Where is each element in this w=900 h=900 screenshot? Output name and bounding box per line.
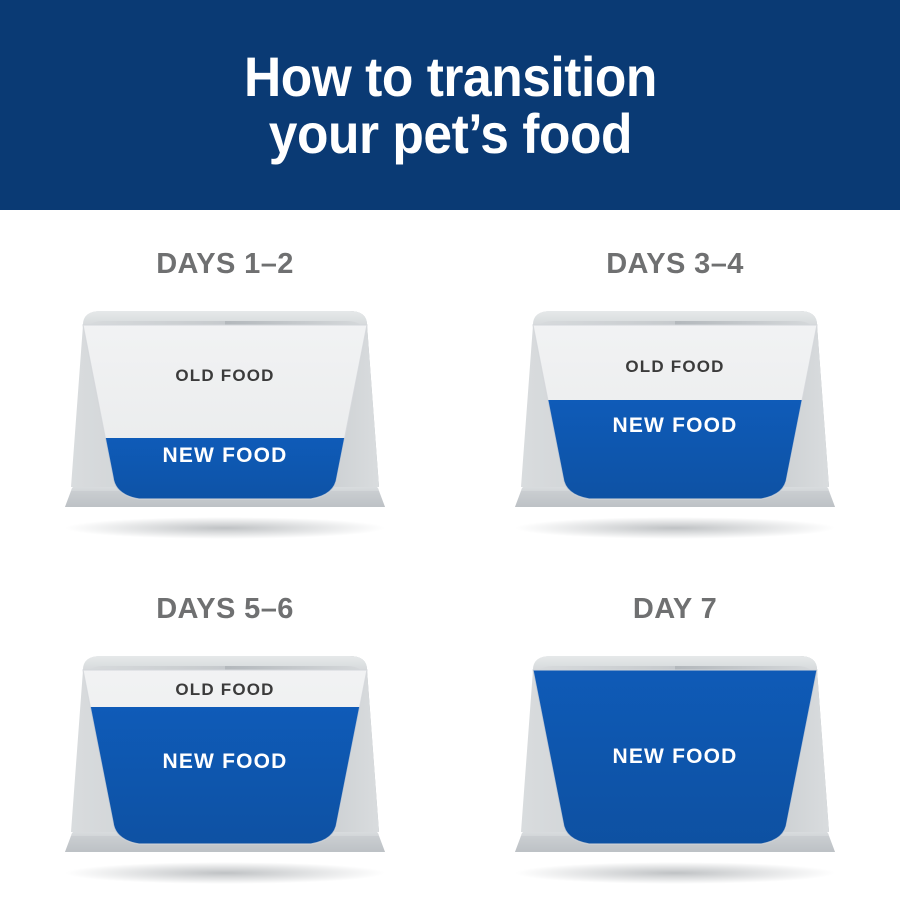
bowl-svg-3 <box>35 640 415 890</box>
header-banner: How to transition your pet’s food <box>0 0 900 210</box>
step-card-1: DAYS 1–2 <box>0 210 450 555</box>
step-title-2: DAYS 3–4 <box>606 210 744 288</box>
bowl-svg-2 <box>485 295 865 545</box>
bowl-svg-1 <box>35 295 415 545</box>
step-card-2: DAYS 3–4 <box>450 210 900 555</box>
bowl-graphic-3: OLD FOOD NEW FOOD <box>35 640 415 890</box>
steps-grid: DAYS 1–2 <box>0 210 900 900</box>
step-card-4: DAY 7 <box>450 555 900 900</box>
step-title-3: DAYS 5–6 <box>156 555 294 633</box>
step-card-3: DAYS 5–6 <box>0 555 450 900</box>
bowl-graphic-1: OLD FOOD NEW FOOD <box>35 295 415 545</box>
bowl-svg-4 <box>485 640 865 890</box>
step-title-1: DAYS 1–2 <box>156 210 294 288</box>
step-title-4: DAY 7 <box>633 555 717 633</box>
bowl-graphic-2: OLD FOOD NEW FOOD <box>485 295 865 545</box>
page-title: How to transition your pet’s food <box>207 48 693 162</box>
bowl-graphic-4: NEW FOOD <box>485 640 865 890</box>
